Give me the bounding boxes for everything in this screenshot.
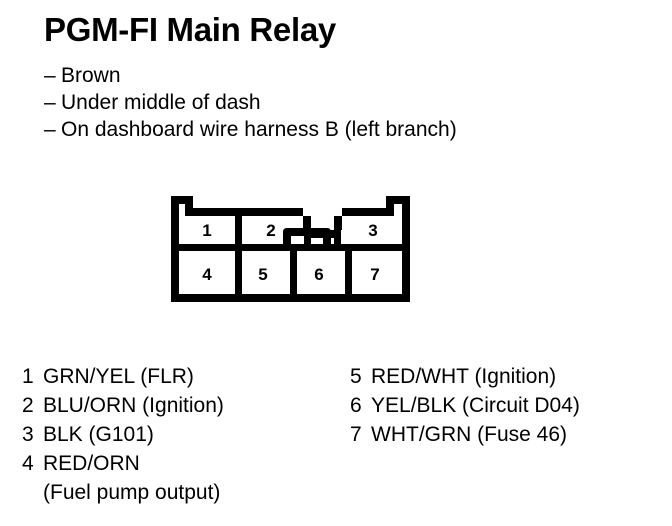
pin-number: 2 [266, 221, 275, 240]
pin-number: 6 [314, 265, 323, 284]
legend-item: 5 RED/WHT (Ignition) [350, 362, 660, 391]
description-line: – Brown [44, 62, 604, 89]
legend-pin-number: 4 [22, 449, 43, 478]
legend-pin-label: WHT/GRN (Fuse 46) [371, 420, 567, 449]
cell-divider-notch-3 [334, 216, 341, 244]
description-line: – Under middle of dash [44, 89, 604, 116]
legend-item: 6 YEL/BLK (Circuit D04) [350, 391, 660, 420]
legend-pin-number: 2 [22, 391, 43, 420]
description-text: On dashboard wire harness B (left branch… [61, 116, 457, 143]
pin-number: 3 [368, 221, 377, 240]
legend-pin-number: 1 [22, 362, 43, 391]
legend-pin-label-continuation: (Fuel pump output) [22, 478, 342, 507]
pin-number: 1 [202, 221, 211, 240]
cell-divider-4-5 [235, 251, 242, 294]
dash-icon: – [44, 89, 61, 116]
legend-item: 7 WHT/GRN (Fuse 46) [350, 420, 660, 449]
legend-item: 2 BLU/ORN (Ignition) [22, 391, 342, 420]
legend-pin-label: GRN/YEL (FLR) [43, 362, 194, 391]
legend-pin-label: BLU/ORN (Ignition) [43, 391, 224, 420]
pin-number: 7 [370, 265, 379, 284]
page-title: PGM-FI Main Relay [44, 10, 336, 50]
description-text: Under middle of dash [61, 89, 261, 116]
legend-item: 4 RED/ORN [22, 449, 342, 478]
legend-pin-label: RED/WHT (Ignition) [371, 362, 556, 391]
legend-pin-number: 7 [350, 420, 371, 449]
legend-pin-label: YEL/BLK (Circuit D04) [371, 391, 580, 420]
cell-divider-5-6 [290, 251, 297, 294]
pin-number: 4 [202, 265, 212, 284]
legend-item: 1 GRN/YEL (FLR) [22, 362, 342, 391]
cell-divider-6-7 [345, 251, 352, 294]
cell-divider-1-2 [235, 216, 242, 244]
pin-legend-left: 1 GRN/YEL (FLR) 2 BLU/ORN (Ignition) 3 B… [22, 362, 342, 507]
legend-pin-label: RED/ORN [43, 449, 140, 478]
description-text: Brown [61, 62, 121, 89]
pin-legend-right: 5 RED/WHT (Ignition) 6 YEL/BLK (Circuit … [350, 362, 660, 449]
legend-pin-number: 5 [350, 362, 371, 391]
legend-item: 3 BLK (G101) [22, 420, 342, 449]
legend-pin-number: 3 [22, 420, 43, 449]
description-line: – On dashboard wire harness B (left bran… [44, 116, 604, 143]
pin-number: 5 [258, 265, 267, 284]
legend-pin-label: BLK (G101) [43, 420, 154, 449]
connector-diagram: 1 2 3 4 5 6 7 [171, 196, 410, 302]
dash-icon: – [44, 116, 61, 143]
dash-icon: – [44, 62, 61, 89]
row-divider [179, 244, 402, 251]
legend-pin-number: 6 [350, 391, 371, 420]
description-list: – Brown – Under middle of dash – On dash… [44, 62, 604, 143]
